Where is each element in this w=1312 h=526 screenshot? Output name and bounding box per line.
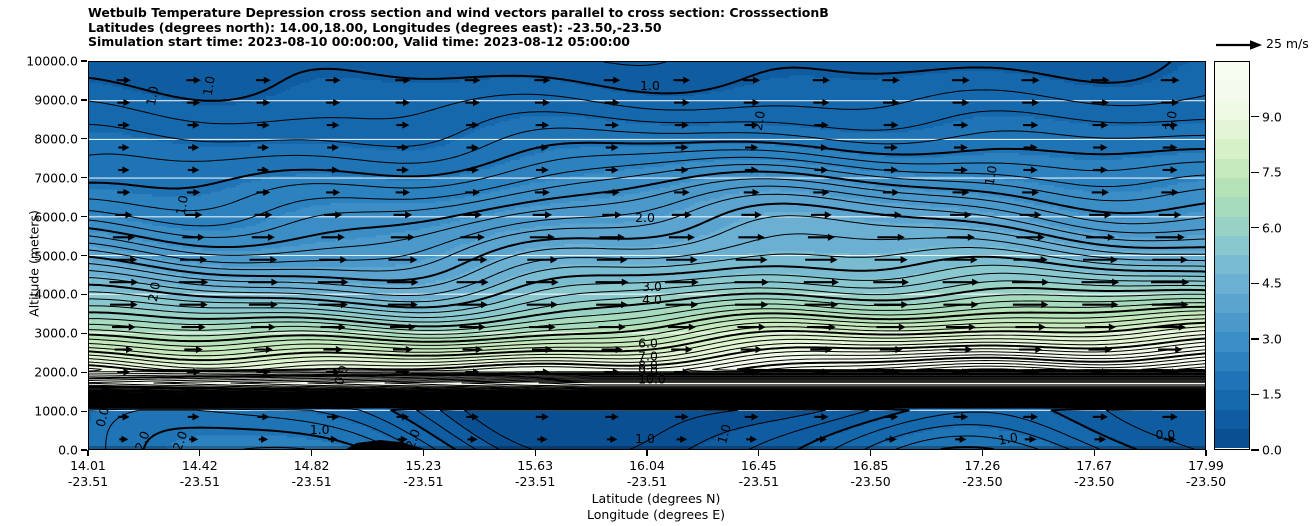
y-tick-label: 3000.0	[0, 326, 78, 341]
colorbar-swatch	[1215, 62, 1249, 81]
x-tick-latitude: 17.99	[1151, 458, 1261, 474]
colorbar-swatch	[1215, 429, 1249, 448]
y-tick-label: 5000.0	[0, 248, 78, 263]
x-tick-label: 14.42-23.51	[145, 458, 255, 490]
x-tick-longitude: -23.50	[927, 474, 1037, 490]
x-axis-label-longitude: Longitude (degrees E)	[446, 507, 866, 522]
x-tick-label: 16.04-23.51	[592, 458, 702, 490]
x-tick-latitude: 17.67	[1039, 458, 1149, 474]
x-tick-latitude: 14.01	[33, 458, 143, 474]
colorbar-swatch	[1215, 81, 1249, 100]
colorbar-swatch	[1215, 197, 1249, 216]
x-tick-label: 17.67-23.50	[1039, 458, 1149, 490]
colorbar-swatch	[1215, 352, 1249, 371]
colorbar-swatch	[1215, 120, 1249, 139]
colorbar-swatch	[1215, 255, 1249, 274]
y-tick-mark	[81, 177, 87, 178]
x-tick-longitude: -23.51	[480, 474, 590, 490]
x-tick-latitude: 16.85	[816, 458, 926, 474]
y-axis-label: Altitude (meters)	[27, 184, 42, 344]
colorbar-tick-label: 9.0	[1262, 109, 1282, 124]
x-tick-label: 14.82-23.51	[257, 458, 367, 490]
y-tick-label: 6000.0	[0, 209, 78, 224]
wind-vector-key: 25 m/s	[1214, 34, 1312, 56]
colorbar-tick-mark	[1251, 116, 1259, 117]
colorbar[interactable]	[1214, 61, 1250, 450]
svg-text:0.0: 0.0	[93, 405, 113, 428]
colorbar-tick-mark	[1251, 172, 1259, 173]
y-tick-label: 4000.0	[0, 287, 78, 302]
colorbar-swatch	[1215, 274, 1249, 293]
svg-text:1.0: 1.0	[640, 78, 660, 93]
y-tick-label: 9000.0	[0, 92, 78, 107]
x-tick-mark	[1205, 450, 1206, 456]
x-tick-longitude: -23.51	[704, 474, 814, 490]
y-tick-mark	[81, 99, 87, 100]
x-tick-longitude: -23.51	[33, 474, 143, 490]
y-tick-mark	[81, 255, 87, 256]
x-tick-latitude: 16.45	[704, 458, 814, 474]
svg-text:2.0: 2.0	[1162, 109, 1180, 131]
figure-title: Wetbulb Temperature Depression cross sec…	[88, 6, 1208, 50]
colorbar-tick-label: 4.5	[1262, 276, 1282, 291]
y-tick-label: 2000.0	[0, 365, 78, 380]
colorbar-swatch	[1215, 178, 1249, 197]
x-tick-label: 14.01-23.51	[33, 458, 143, 490]
x-tick-label: 15.23-23.51	[368, 458, 478, 490]
colorbar-tick-mark	[1251, 338, 1259, 339]
colorbar-swatch	[1215, 294, 1249, 313]
x-tick-longitude: -23.51	[368, 474, 478, 490]
svg-text:10.0: 10.0	[634, 387, 662, 402]
y-tick-mark	[81, 333, 87, 334]
contour-labels-layer: 1.01.01.02.02.01.01.02.02.03.04.06.07.08…	[89, 62, 1205, 449]
x-tick-mark	[311, 450, 312, 456]
svg-text:10.0: 10.0	[638, 371, 666, 386]
svg-text:2.0: 2.0	[635, 210, 655, 225]
svg-text:4.0: 4.0	[642, 292, 662, 307]
x-tick-mark	[535, 450, 536, 456]
svg-text:1.0: 1.0	[173, 194, 191, 216]
y-tick-label: 0.0	[0, 443, 78, 458]
y-tick-mark	[81, 138, 87, 139]
title-line-1: Wetbulb Temperature Depression cross sec…	[88, 6, 1208, 21]
y-tick-mark	[81, 60, 87, 61]
x-tick-mark	[870, 450, 871, 456]
colorbar-tick-mark	[1251, 227, 1259, 228]
x-tick-longitude: -23.50	[816, 474, 926, 490]
y-tick-mark	[81, 372, 87, 373]
y-tick-label: 10000.0	[0, 54, 78, 69]
svg-text:1.0: 1.0	[200, 75, 218, 97]
colorbar-swatch	[1215, 371, 1249, 390]
svg-text:1.0: 1.0	[635, 431, 655, 446]
x-tick-label: 15.63-23.51	[480, 458, 590, 490]
x-tick-label: 17.99-23.50	[1151, 458, 1261, 490]
svg-text:0.0: 0.0	[1155, 427, 1175, 442]
x-tick-mark	[199, 450, 200, 456]
x-tick-longitude: -23.50	[1039, 474, 1149, 490]
x-tick-latitude: 15.63	[480, 458, 590, 474]
colorbar-swatch	[1215, 236, 1249, 255]
colorbar-tick-label: 0.0	[1262, 443, 1282, 458]
x-tick-mark	[982, 450, 983, 456]
x-axis-label-latitude: Latitude (degrees N)	[446, 491, 866, 506]
x-tick-latitude: 14.82	[257, 458, 367, 474]
svg-text:1.0: 1.0	[982, 164, 1000, 186]
colorbar-swatch	[1215, 410, 1249, 429]
colorbar-swatch	[1215, 313, 1249, 332]
colorbar-tick-label: 3.0	[1262, 331, 1282, 346]
svg-text:2.0: 2.0	[750, 109, 768, 131]
svg-text:1.0: 1.0	[997, 429, 1019, 447]
title-line-3: Simulation start time: 2023-08-10 00:00:…	[88, 35, 1208, 50]
y-tick-mark	[81, 216, 87, 217]
x-tick-label: 17.26-23.50	[927, 458, 1037, 490]
cross-section-plot[interactable]: 1.01.01.02.02.01.01.02.02.03.04.06.07.08…	[88, 61, 1206, 450]
colorbar-swatch	[1215, 217, 1249, 236]
y-tick-mark	[81, 294, 87, 295]
x-tick-mark	[1094, 450, 1095, 456]
colorbar-tick-mark	[1251, 449, 1259, 450]
title-line-2: Latitudes (degrees north): 14.00,18.00, …	[88, 21, 1208, 36]
x-tick-mark	[646, 450, 647, 456]
y-tick-label: 7000.0	[0, 170, 78, 185]
colorbar-tick-mark	[1251, 394, 1259, 395]
x-tick-mark	[87, 450, 88, 456]
colorbar-tick-label: 7.5	[1262, 165, 1282, 180]
x-tick-label: 16.85-23.50	[816, 458, 926, 490]
x-tick-mark	[423, 450, 424, 456]
svg-text:1.0: 1.0	[143, 85, 161, 107]
x-tick-longitude: -23.51	[592, 474, 702, 490]
colorbar-swatch	[1215, 332, 1249, 351]
y-tick-mark	[81, 411, 87, 412]
colorbar-tick-mark	[1251, 283, 1259, 284]
svg-text:1.0: 1.0	[714, 422, 734, 445]
colorbar-tick-label: 6.0	[1262, 220, 1282, 235]
x-tick-longitude: -23.51	[145, 474, 255, 490]
x-tick-latitude: 17.26	[927, 458, 1037, 474]
y-tick-label: 1000.0	[0, 404, 78, 419]
colorbar-swatch	[1215, 390, 1249, 409]
colorbar-swatch	[1215, 101, 1249, 120]
colorbar-swatch	[1215, 159, 1249, 178]
y-tick-label: 8000.0	[0, 131, 78, 146]
x-tick-longitude: -23.51	[257, 474, 367, 490]
right-arrow-icon	[1214, 34, 1264, 56]
colorbar-swatch	[1215, 139, 1249, 158]
svg-text:2.0: 2.0	[145, 281, 163, 303]
x-tick-latitude: 14.42	[145, 458, 255, 474]
x-tick-mark	[758, 450, 759, 456]
svg-text:1.0: 1.0	[310, 422, 330, 437]
x-tick-latitude: 15.23	[368, 458, 478, 474]
x-tick-latitude: 16.04	[592, 458, 702, 474]
colorbar-tick-label: 1.5	[1262, 387, 1282, 402]
x-tick-label: 16.45-23.51	[704, 458, 814, 490]
x-tick-longitude: -23.50	[1151, 474, 1261, 490]
figure-root: Wetbulb Temperature Depression cross sec…	[0, 0, 1312, 526]
wind-key-label: 25 m/s	[1266, 36, 1309, 51]
y-tick-mark	[81, 449, 87, 450]
